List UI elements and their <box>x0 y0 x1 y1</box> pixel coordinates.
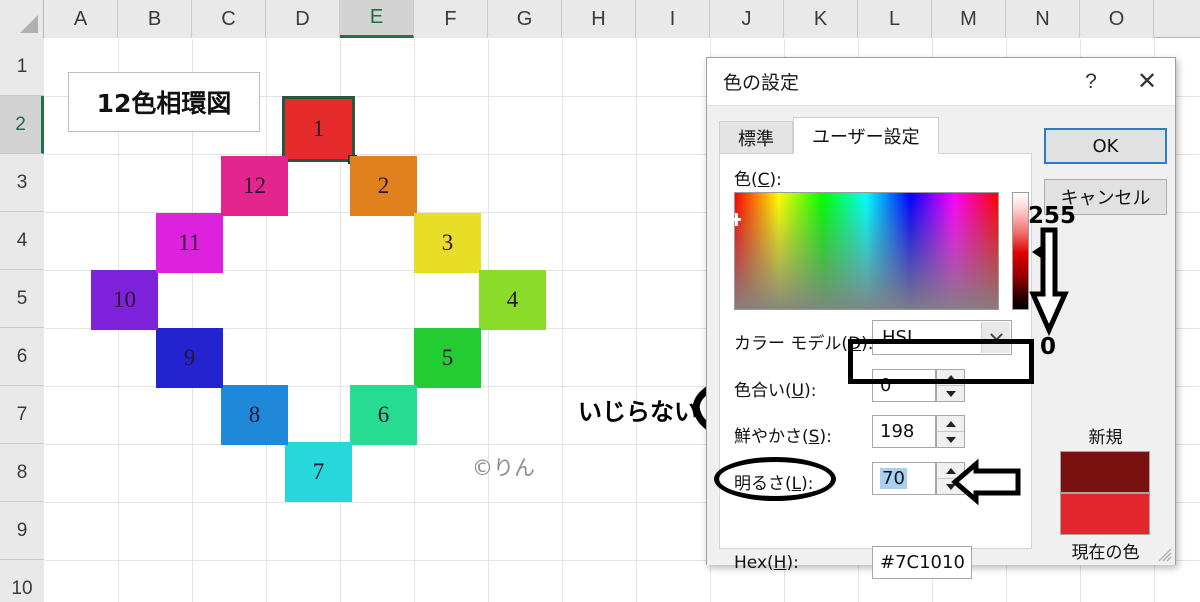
new-color-swatch <box>1060 451 1150 493</box>
column-header-i[interactable]: I <box>636 0 710 38</box>
ok-button[interactable]: OK <box>1044 128 1167 164</box>
column-header-c[interactable]: C <box>192 0 266 38</box>
gradient-crosshair-icon[interactable] <box>732 213 743 226</box>
column-header-e[interactable]: E <box>340 0 414 38</box>
hue-square-1[interactable]: 1 <box>285 99 352 159</box>
column-header-b[interactable]: B <box>118 0 192 38</box>
hue-square-5[interactable]: 5 <box>414 328 481 388</box>
hex-input[interactable]: #7C1010 <box>872 546 972 579</box>
hue-square-4[interactable]: 4 <box>479 270 546 330</box>
row-header-10[interactable]: 10 <box>0 560 44 602</box>
dialog-title: 色の設定 <box>723 68 799 95</box>
tab-custom[interactable]: ユーザー設定 <box>793 117 939 154</box>
column-header-f[interactable]: F <box>414 0 488 38</box>
row-header-7[interactable]: 7 <box>0 386 44 444</box>
row-header-column[interactable]: 12345678910 <box>0 38 44 602</box>
annotation-255-label: 255 <box>1028 203 1076 229</box>
saturation-stepper[interactable] <box>936 415 965 448</box>
select-all-triangle-icon <box>20 15 38 33</box>
row-header-8[interactable]: 8 <box>0 444 44 502</box>
app-root: 123456789101112 12色相環図 ©りん ABCDEFGHIJKLM… <box>0 0 1200 602</box>
saturation-label: 鮮やかさ(S): <box>734 422 832 447</box>
hue-label: 色合い(U): <box>734 376 816 401</box>
drawing-title-box: 12色相環図 <box>68 72 260 132</box>
column-header-n[interactable]: N <box>1006 0 1080 38</box>
column-header-h[interactable]: H <box>562 0 636 38</box>
annotation-ellipse-luminance <box>714 457 836 501</box>
hue-square-10[interactable]: 10 <box>91 270 158 330</box>
column-header-l[interactable]: L <box>858 0 932 38</box>
hue-square-11[interactable]: 11 <box>156 213 223 273</box>
color-field-label: 色(C): <box>734 165 782 190</box>
hue-square-7[interactable]: 7 <box>285 442 352 502</box>
hue-square-3[interactable]: 3 <box>414 213 481 273</box>
color-gradient-picker[interactable] <box>734 192 999 310</box>
column-header-j[interactable]: J <box>710 0 784 38</box>
annotation-down-arrow-icon <box>1030 228 1070 334</box>
resize-grip-icon[interactable] <box>1158 548 1172 562</box>
hue-square-12[interactable]: 12 <box>221 156 288 216</box>
column-header-m[interactable]: M <box>932 0 1006 38</box>
annotation-0-label: 0 <box>1040 334 1056 360</box>
hue-stepper-down-icon[interactable] <box>937 386 964 401</box>
drawing-title: 12色相環図 <box>97 84 232 120</box>
row-header-4[interactable]: 4 <box>0 212 44 270</box>
saturation-overlay <box>735 193 998 309</box>
saturation-stepper-up-icon[interactable] <box>937 416 964 432</box>
column-header-o[interactable]: O <box>1080 0 1154 38</box>
row-header-5[interactable]: 5 <box>0 270 44 328</box>
luminance-value: 70 <box>880 468 907 489</box>
annotation-ijiranai: いじらない <box>578 392 698 427</box>
annotation-box-color-model <box>848 339 1034 384</box>
annotation-left-arrow-icon <box>952 462 1022 502</box>
row-header-1[interactable]: 1 <box>0 38 44 96</box>
select-all-corner[interactable] <box>0 0 44 38</box>
column-header-row[interactable]: ABCDEFGHIJKLMNO <box>0 0 1200 38</box>
column-header-a[interactable]: A <box>44 0 118 38</box>
luminance-input[interactable]: 70 <box>872 462 936 495</box>
hue-square-8[interactable]: 8 <box>221 385 288 445</box>
hue-square-9[interactable]: 9 <box>156 328 223 388</box>
row-header-9[interactable]: 9 <box>0 502 44 560</box>
luminance-slider[interactable] <box>1012 192 1029 310</box>
tab-standard[interactable]: 標準 <box>719 121 793 154</box>
hue-square-2[interactable]: 2 <box>350 156 417 216</box>
watermark: ©りん <box>472 452 535 482</box>
row-header-3[interactable]: 3 <box>0 154 44 212</box>
dialog-titlebar[interactable]: 色の設定 ? ✕ <box>707 58 1175 106</box>
column-header-d[interactable]: D <box>266 0 340 38</box>
saturation-input[interactable]: 198 <box>872 415 936 448</box>
column-header-g[interactable]: G <box>488 0 562 38</box>
dialog-tabstrip[interactable]: 標準 ユーザー設定 <box>719 118 939 154</box>
current-color-label: 現在の色 <box>1044 538 1167 563</box>
new-color-label: 新規 <box>1044 423 1167 448</box>
help-icon[interactable]: ? <box>1067 58 1115 105</box>
row-header-6[interactable]: 6 <box>0 328 44 386</box>
column-header-k[interactable]: K <box>784 0 858 38</box>
saturation-stepper-down-icon[interactable] <box>937 432 964 447</box>
close-icon[interactable]: ✕ <box>1123 58 1171 105</box>
current-color-swatch <box>1060 493 1150 535</box>
row-header-2[interactable]: 2 <box>0 96 44 154</box>
hex-label: Hex(H): <box>734 553 799 573</box>
hue-square-6[interactable]: 6 <box>350 385 417 445</box>
